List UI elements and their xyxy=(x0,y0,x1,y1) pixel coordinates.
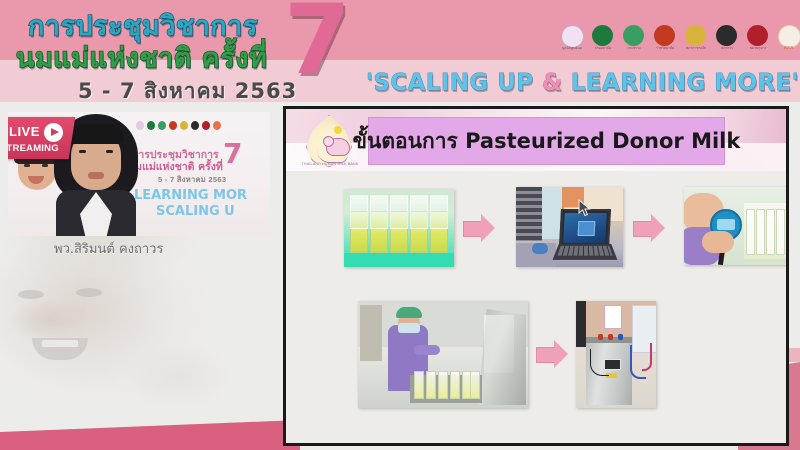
screen: การประชุมวิชาการ นมแม่แห่งชาติ ครั้งที่ … xyxy=(0,0,800,450)
logo-caption: THAILAND HUMAN MILK BANK xyxy=(300,162,360,166)
logo-6: ชมรมกุมารแพทย์ xyxy=(746,24,770,50)
logo-5: สภาการพยาบาล xyxy=(715,24,739,50)
speaker-name-caption: พว.สิริมนต์ คงถาวร xyxy=(54,238,163,259)
conference-title-line2: นมแม่แห่งชาติ ครั้งที่ xyxy=(16,36,267,79)
arrow-step-2-to-3 xyxy=(633,214,665,242)
mouse-pointer xyxy=(578,199,591,217)
photo-laptop-data-entry xyxy=(516,187,623,267)
logo-1: กรมอนามัย xyxy=(591,24,615,50)
arrow-step-4-to-5 xyxy=(536,340,568,368)
arrow-step-1-to-2 xyxy=(463,214,495,242)
logo-4: สภากาชาดไทย xyxy=(684,24,708,50)
photo-nurse-loading-pasteurizer xyxy=(358,301,528,408)
photo-pasteurizer-machine xyxy=(576,301,656,408)
sponsor-logos: มูลนิธิศูนย์นมแม่ กรมอนามัย กระทรวงสาธาร… xyxy=(560,24,800,50)
tagline-part-1: 'SCALING UP xyxy=(366,70,542,96)
presentation-slide[interactable]: THAILAND HUMAN MILK BANK ขั้นตอนการ Past… xyxy=(283,106,789,446)
streaming-label: STREAMING xyxy=(8,143,59,154)
slide-title: ขั้นตอนการ Pasteurized Donor Milk xyxy=(369,118,724,164)
photo-milk-bottle-racks xyxy=(344,189,454,267)
photo-temperature-probe xyxy=(684,187,789,265)
slide-title-band: ขั้นตอนการ Pasteurized Donor Milk xyxy=(368,117,725,165)
conference-date: 5 - 7 สิงหาคม 2563 xyxy=(78,75,297,108)
logo-2: กระทรวงสาธารณสุข xyxy=(622,24,646,50)
video-backdrop-tagline1: LEARNING MOR xyxy=(134,188,247,203)
video-backdrop-tagline2: SCALING U xyxy=(156,204,235,219)
live-video-feed[interactable]: การประชุมวิชาการ นมแม่แห่งชาติ ครั้งที่ … xyxy=(8,112,270,236)
logo-7: สสส. xyxy=(777,24,800,50)
conference-tagline: 'SCALING UP & LEARNING MORE' xyxy=(366,70,799,96)
video-backdrop-title2: นมแม่แห่งชาติ ครั้งที่ xyxy=(128,158,223,175)
video-backdrop-date: 5 - 7 สิงหาคม 2563 xyxy=(158,174,226,186)
tagline-part-2: LEARNING MORE' xyxy=(562,70,799,96)
video-backdrop-logos xyxy=(136,121,221,130)
conference-edition-number: 7 xyxy=(284,0,351,88)
logo-3: ราชวิทยาลัย xyxy=(653,24,677,50)
live-label: LIVE xyxy=(9,124,40,139)
logo-0: มูลนิธิศูนย์นมแม่ xyxy=(560,24,584,50)
video-backdrop-edition: 7 xyxy=(223,140,242,168)
play-icon xyxy=(44,123,63,142)
live-streaming-badge: LIVE STREAMING xyxy=(8,117,75,159)
tagline-ampersand: & xyxy=(542,70,562,96)
